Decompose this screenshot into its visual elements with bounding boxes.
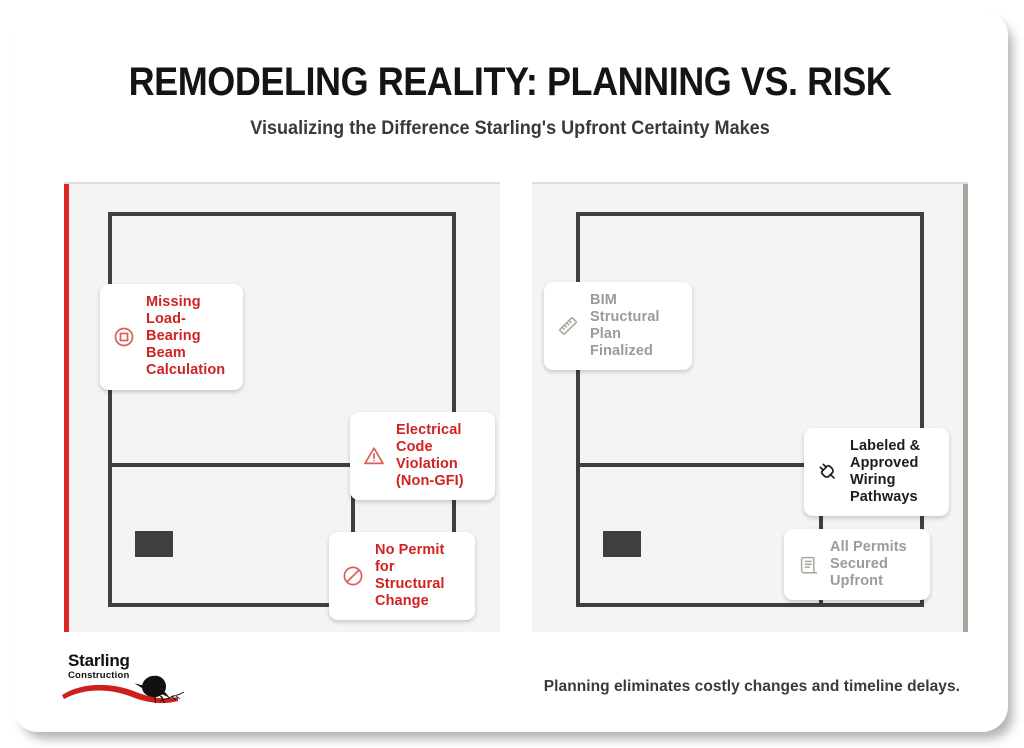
floorplan-appliance-block bbox=[135, 531, 173, 557]
logo-name: Starling bbox=[68, 652, 130, 669]
callout-label: Missing Load-Bearing Beam Calculation bbox=[146, 294, 229, 380]
callout-label: All Permits Secured Upfront bbox=[830, 539, 916, 590]
risk-panel: Missing Load-Bearing Beam Calculation El… bbox=[64, 182, 500, 632]
callout-bim-structural-plan-finalized[interactable]: BIM Structural Plan Finalized bbox=[544, 282, 692, 370]
callout-all-permits-secured-upfront[interactable]: All Permits Secured Upfront bbox=[784, 529, 930, 600]
risk-accent-bar bbox=[64, 184, 69, 632]
callout-label: Labeled & Approved Wiring Pathways bbox=[850, 438, 935, 506]
callout-label: No Permit for Structural Change bbox=[375, 542, 461, 610]
callout-electrical-code-violation[interactable]: Electrical Code Violation (Non-GFI) bbox=[350, 412, 495, 500]
starling-construction-logo[interactable]: Starling Construction bbox=[60, 648, 188, 704]
callout-missing-load-bearing-beam[interactable]: Missing Load-Bearing Beam Calculation bbox=[100, 284, 243, 390]
callout-label: BIM Structural Plan Finalized bbox=[590, 292, 678, 360]
page-subtitle: Visualizing the Difference Starling's Up… bbox=[37, 118, 983, 141]
callout-no-permit-structural-change[interactable]: No Permit for Structural Change bbox=[329, 532, 475, 620]
ban-icon bbox=[341, 564, 365, 588]
page-title: REMODELING REALITY: PLANNING VS. RISK bbox=[62, 60, 958, 104]
footer: Starling Construction bbox=[12, 648, 1008, 706]
scroll-document-icon bbox=[796, 553, 820, 577]
footer-tagline: Planning eliminates costly changes and t… bbox=[544, 678, 960, 696]
circle-square-icon bbox=[112, 325, 136, 349]
header: REMODELING REALITY: PLANNING VS. RISK Vi… bbox=[12, 60, 1008, 141]
callout-labeled-approved-wiring-pathways[interactable]: Labeled & Approved Wiring Pathways bbox=[804, 428, 949, 516]
callout-label: Electrical Code Violation (Non-GFI) bbox=[396, 422, 481, 490]
planning-accent-bar bbox=[963, 184, 968, 632]
warning-triangle-icon bbox=[362, 444, 386, 468]
planning-panel: BIM Structural Plan Finalized Labeled & … bbox=[532, 182, 968, 632]
poster-card: REMODELING REALITY: PLANNING VS. RISK Vi… bbox=[12, 10, 1008, 732]
floorplan-appliance-block bbox=[603, 531, 641, 557]
logo-bird-and-swoosh bbox=[60, 670, 188, 704]
plug-icon bbox=[816, 460, 840, 484]
ruler-icon bbox=[556, 314, 580, 338]
comparison-panels: Missing Load-Bearing Beam Calculation El… bbox=[64, 182, 968, 632]
